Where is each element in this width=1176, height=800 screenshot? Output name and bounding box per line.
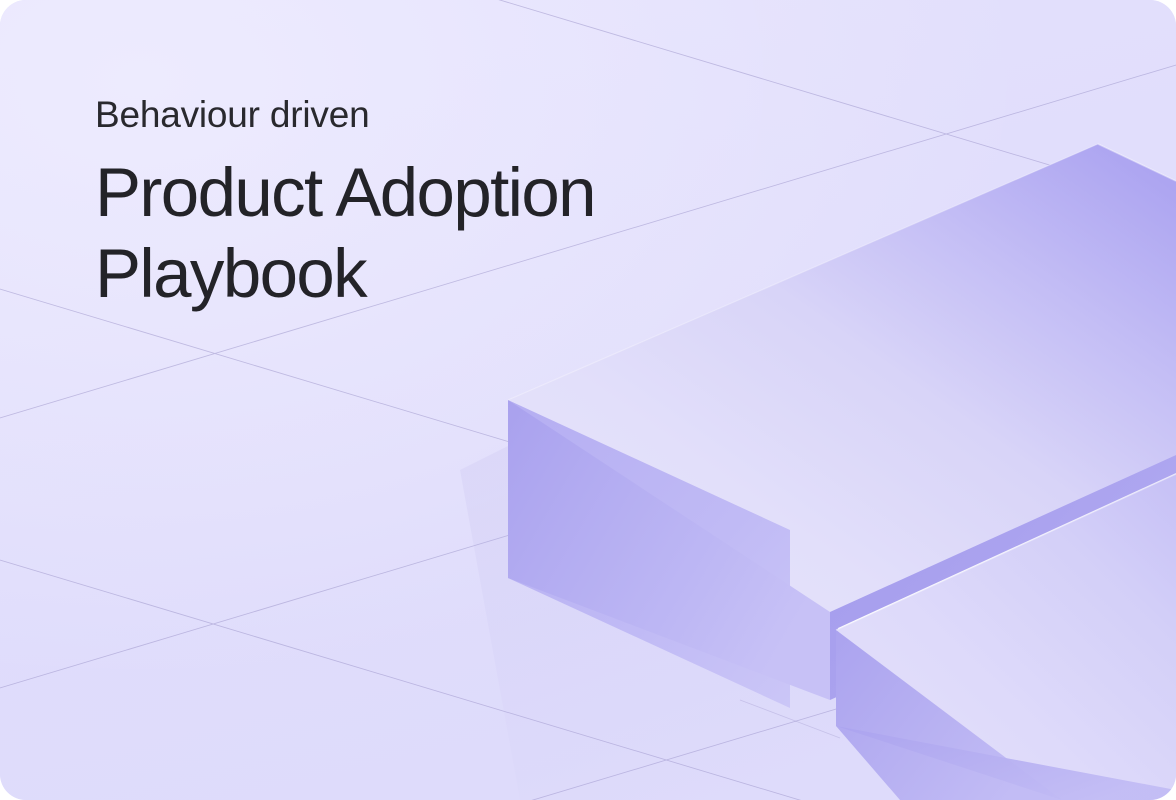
page-title-line-2: Playbook	[95, 233, 775, 314]
page-title: Product Adoption Playbook	[95, 152, 775, 314]
cover-canvas: Behaviour driven Product Adoption Playbo…	[0, 0, 1176, 800]
cover-eyebrow: Behaviour driven	[95, 92, 775, 138]
cover-text-block: Behaviour driven Product Adoption Playbo…	[95, 92, 775, 314]
lower-slab	[836, 474, 1176, 800]
page-title-line-1: Product Adoption	[95, 152, 775, 233]
